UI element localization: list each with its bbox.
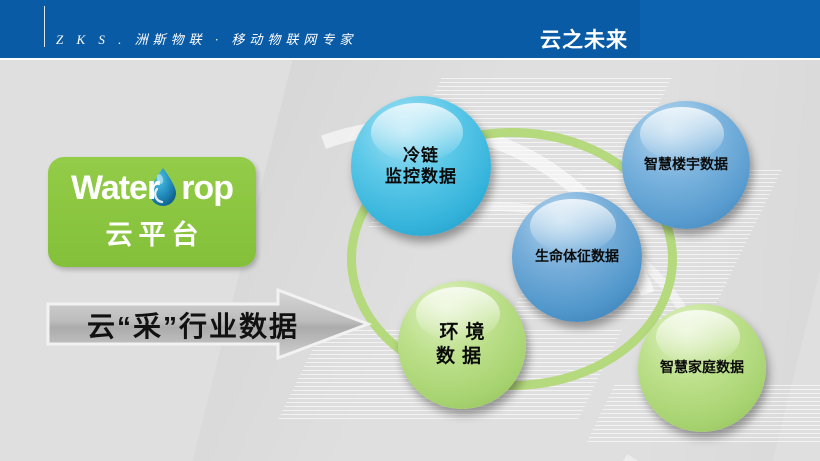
logo-word-post: rop — [181, 169, 233, 207]
page-title: 云之未来 — [540, 24, 628, 54]
node-vital-signs[interactable]: 生命体征数据 — [512, 192, 642, 322]
node-vital-signs-label: 生命体征数据 — [535, 248, 619, 266]
slide-header: Z K S . 洲斯物联 · 移动物联网专家 云之未来 — [0, 0, 820, 58]
logo-word-pre: Water — [71, 169, 159, 207]
arrow-banner: 云“采”行业数据 — [46, 288, 376, 360]
node-environment-label: 环境 数据 — [432, 321, 491, 369]
node-smart-building[interactable]: 智慧楼宇数据 — [622, 101, 750, 229]
waterdrop-logo: Waterrop 云平台 — [48, 157, 256, 267]
node-environment[interactable]: 环境 数据 — [398, 281, 526, 409]
slide: Z K S . 洲斯物联 · 移动物联网专家 云之未来 Waterrop 云平台 — [0, 0, 820, 461]
arrow-banner-label: 云“采”行业数据 — [68, 304, 318, 346]
node-smart-home[interactable]: 智慧家庭数据 — [638, 304, 766, 432]
header-underline — [0, 58, 820, 60]
node-smart-building-label: 智慧楼宇数据 — [644, 156, 728, 174]
node-cold-chain-label: 冷链 监控数据 — [385, 145, 457, 188]
node-smart-home-label: 智慧家庭数据 — [660, 359, 744, 377]
brand-tagline: Z K S . 洲斯物联 · 移动物联网专家 — [56, 29, 357, 48]
logo-wordmark: Waterrop — [48, 168, 256, 208]
header-accent-block — [640, 0, 820, 58]
header-divider — [44, 6, 45, 47]
node-cold-chain[interactable]: 冷链 监控数据 — [351, 96, 491, 236]
logo-subtitle: 云平台 — [48, 213, 256, 252]
